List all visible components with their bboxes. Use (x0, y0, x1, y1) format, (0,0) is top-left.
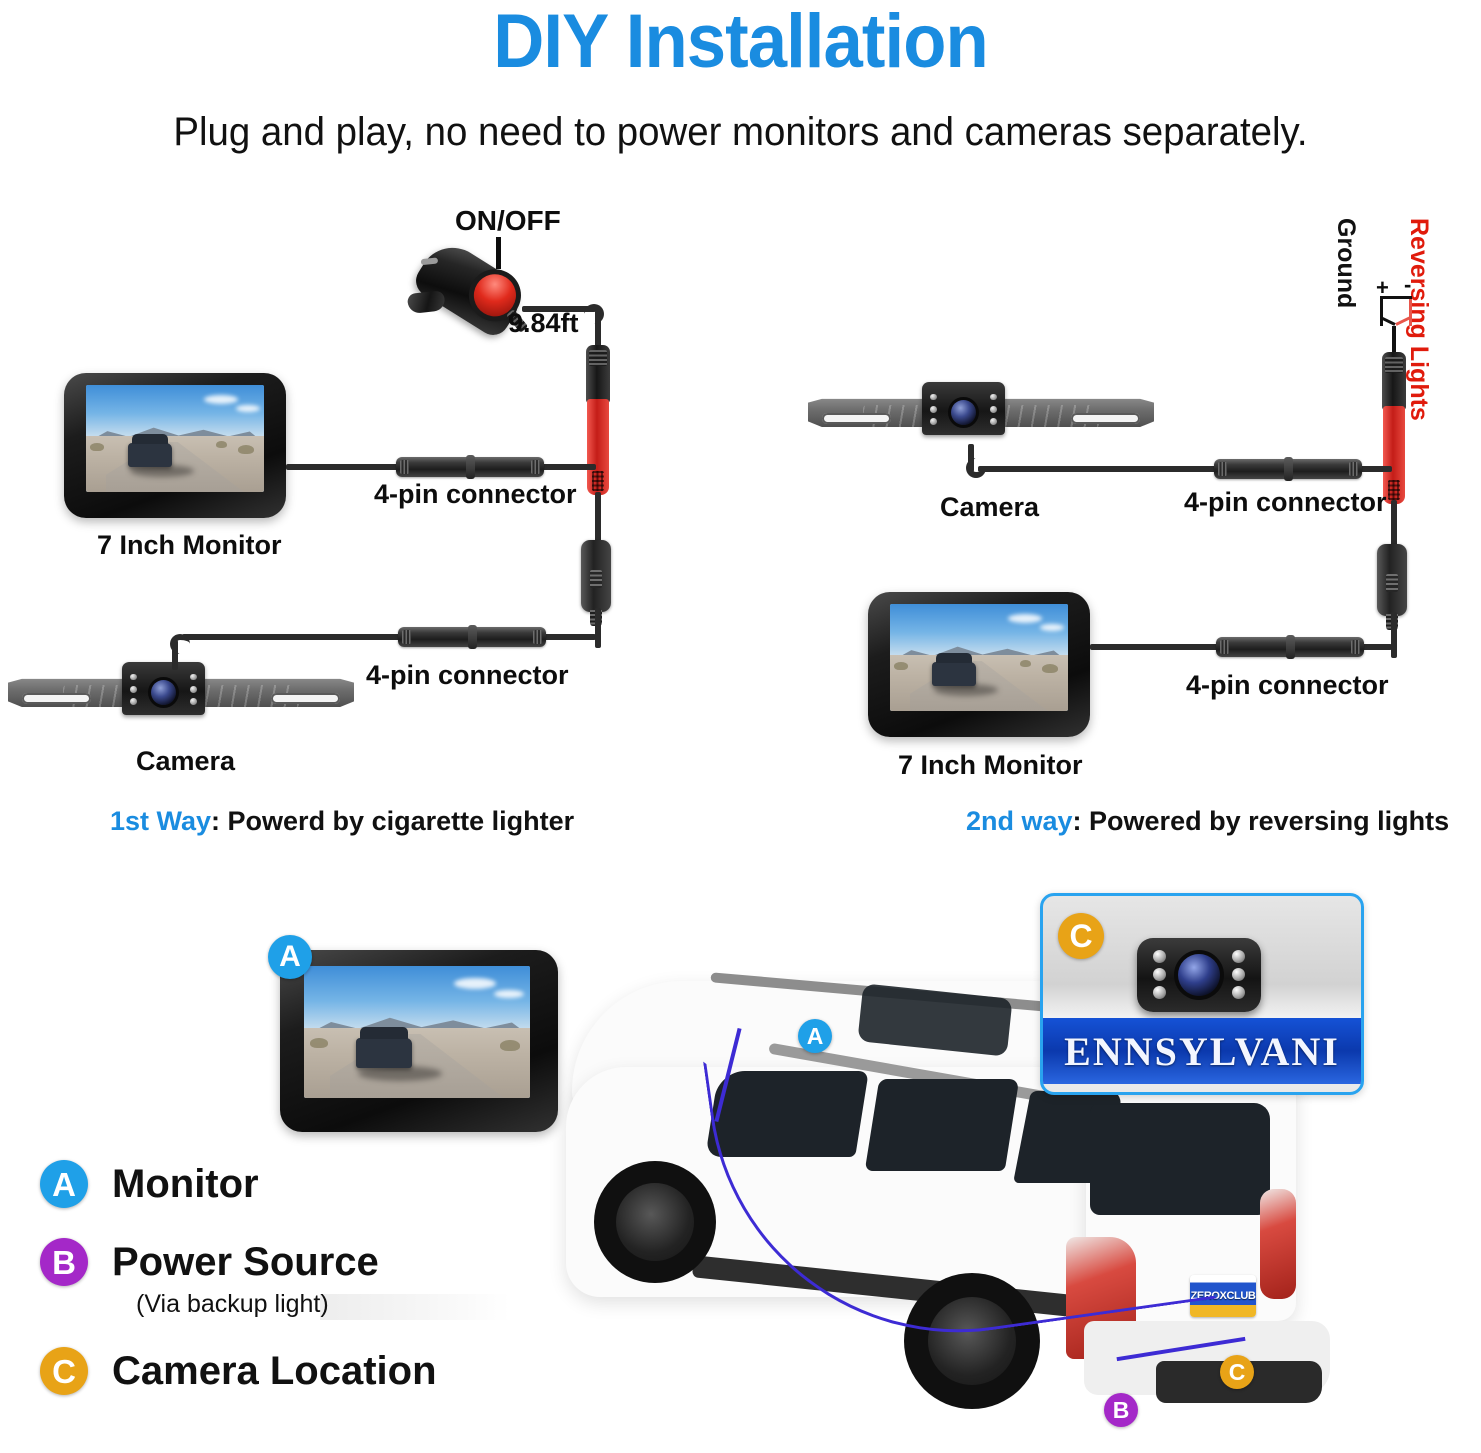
legend-badge-a: A (40, 1160, 88, 1208)
fork-wire-ground (1380, 296, 1383, 326)
legend-badge-c: C (40, 1347, 88, 1395)
ir-led (930, 418, 937, 425)
screen-cloud (236, 405, 260, 412)
caption-left-rest: : Powerd by cigarette lighter (211, 806, 574, 836)
cable-splitter-block-right (1377, 544, 1407, 616)
legend-badge-b: B (40, 1238, 88, 1286)
screen-vehicle (356, 1038, 412, 1068)
page-title: DIY Installation (52, 0, 1429, 85)
monitor-inset-photo (280, 950, 558, 1132)
fork-join-left (1381, 317, 1396, 326)
ir-led (930, 406, 937, 413)
minus-sign-label: - (1404, 272, 1411, 298)
screen-sky (304, 966, 530, 1029)
ir-led (1232, 986, 1245, 999)
badge-a-on-car: A (798, 1019, 832, 1053)
splitter-down-wire-right (1391, 612, 1397, 658)
legend-label-monitor: Monitor (112, 1162, 259, 1207)
camera-lens (151, 680, 176, 705)
front-rim (616, 1183, 694, 1261)
legend-item-power-source: B Power Source (40, 1238, 510, 1286)
monitor-screen-right (890, 604, 1068, 711)
monitor-screen-left (86, 385, 264, 492)
ir-led (130, 674, 137, 681)
fork-trunk (1392, 326, 1396, 354)
screen-vehicle (932, 662, 976, 686)
screen-cloud (1008, 614, 1042, 623)
four-pin-connector-label-bottom-left: 4-pin connector (366, 660, 569, 691)
four-pin-connector-bottom-right (1216, 637, 1364, 657)
power-cable-corner (584, 304, 604, 324)
screen-sky (86, 385, 264, 436)
screen-vehicle-shadow (358, 1066, 442, 1081)
camera-lens (951, 400, 976, 425)
ground-label: Ground (1331, 218, 1360, 308)
badge-a-monitor: A (268, 935, 312, 979)
monitor-label-left: 7 Inch Monitor (97, 530, 282, 561)
ir-led (990, 406, 997, 413)
screen-vehicle (128, 443, 172, 467)
ir-led (1232, 950, 1245, 963)
monitor-unit-left (64, 373, 286, 518)
fork-crossbar (1380, 296, 1412, 299)
badge-b-on-car: B (1104, 1393, 1138, 1427)
camera-module (922, 382, 1005, 435)
barrel-red-half (587, 399, 609, 495)
ir-led (190, 686, 197, 693)
bracket-slot-right (1071, 413, 1140, 424)
inset-camera-lens (1178, 954, 1220, 996)
camera-unit-left (8, 662, 354, 730)
ir-led (990, 418, 997, 425)
bracket-slot-left (822, 413, 891, 424)
ir-led (190, 674, 197, 681)
ir-led (1232, 968, 1245, 981)
legend: A Monitor B Power Source (Via backup lig… (40, 1160, 510, 1403)
four-pin-connector-label-bottom-right: 4-pin connector (1186, 670, 1389, 701)
ir-led (130, 686, 137, 693)
page-subtitle: Plug and play, no need to power monitors… (30, 110, 1452, 155)
legend-label-camera-location: Camera Location (112, 1349, 437, 1394)
barrel-black-half (1382, 352, 1406, 410)
monitor-label-right: 7 Inch Monitor (898, 750, 1083, 781)
bracket-slot-left (22, 693, 91, 704)
diy-installation-infographic: DIY Installation Plug and play, no need … (0, 0, 1481, 1453)
four-pin-connector-label-top-right: 4-pin connector (1184, 487, 1387, 518)
screen-sky (890, 604, 1068, 655)
ir-led (130, 698, 137, 705)
screen-bush (310, 1038, 328, 1048)
tail-light-right (1260, 1189, 1296, 1299)
screen-bush (216, 441, 227, 448)
four-pin-connector-label-top-left: 4-pin connector (374, 479, 577, 510)
barrel-black-half (586, 345, 610, 403)
legend-sublabel-power-source: (Via backup light) (136, 1290, 510, 1319)
legend-item-camera-location: C Camera Location (40, 1347, 510, 1395)
ir-led (1153, 950, 1166, 963)
screen-cloud (454, 978, 496, 989)
on-off-label: ON/OFF (455, 205, 561, 237)
screen-bush (238, 445, 254, 454)
screen-bush (1020, 660, 1031, 667)
screen-bush (500, 1040, 520, 1051)
inset-license-plate: ENNSYLVANI (1040, 1018, 1364, 1084)
camera-unit-right (808, 382, 1154, 450)
camera-label-right: Camera (940, 492, 1039, 523)
caption-right-rest: : Powered by reversing lights (1073, 806, 1450, 836)
screen-cloud (1040, 624, 1064, 631)
caption-left: 1st Way: Powerd by cigarette lighter (110, 806, 574, 837)
camera-module (122, 662, 205, 715)
power-barrel-connector (586, 345, 610, 495)
screen-cloud (204, 395, 238, 404)
badge-c-on-car: C (1220, 1355, 1254, 1389)
caption-right-prefix: 2nd way (966, 806, 1073, 836)
cable-length-label: 9.84ft (508, 308, 579, 339)
monitor-inset-screen (304, 966, 530, 1098)
ir-led (1153, 986, 1166, 999)
bracket-slot-right (271, 693, 340, 704)
camera-label-left: Camera (136, 746, 235, 777)
splitter-down-wire (595, 608, 601, 648)
on-off-leader-line (496, 237, 501, 269)
screen-bush (894, 662, 908, 670)
power-cable-down (595, 310, 601, 348)
legend-label-power-source: Power Source (112, 1240, 379, 1285)
screen-bush (90, 443, 104, 451)
monitor-unit-right (868, 592, 1090, 737)
ir-led (1153, 968, 1166, 981)
four-pin-connector-top-right (1214, 459, 1362, 479)
inset-plate-text: ENNSYLVANI (1064, 1028, 1340, 1075)
four-pin-connector-bottom-left (398, 627, 546, 647)
caption-left-prefix: 1st Way (110, 806, 211, 836)
fork-wire-reversing (1409, 296, 1412, 326)
caption-right: 2nd way: Powered by reversing lights (966, 806, 1449, 837)
ir-led (930, 394, 937, 401)
ir-led (190, 698, 197, 705)
cable-splitter-block (581, 540, 611, 612)
ir-led (990, 394, 997, 401)
inset-camera-unit (1137, 938, 1261, 1012)
screen-bush (1042, 664, 1058, 673)
four-pin-connector-top-left (396, 457, 544, 477)
legend-item-monitor: A Monitor (40, 1160, 510, 1208)
power-barrel-connector-right (1382, 352, 1406, 504)
badge-c-inset: C (1058, 913, 1104, 959)
screen-cloud (494, 990, 524, 998)
plug-tip (407, 290, 446, 314)
